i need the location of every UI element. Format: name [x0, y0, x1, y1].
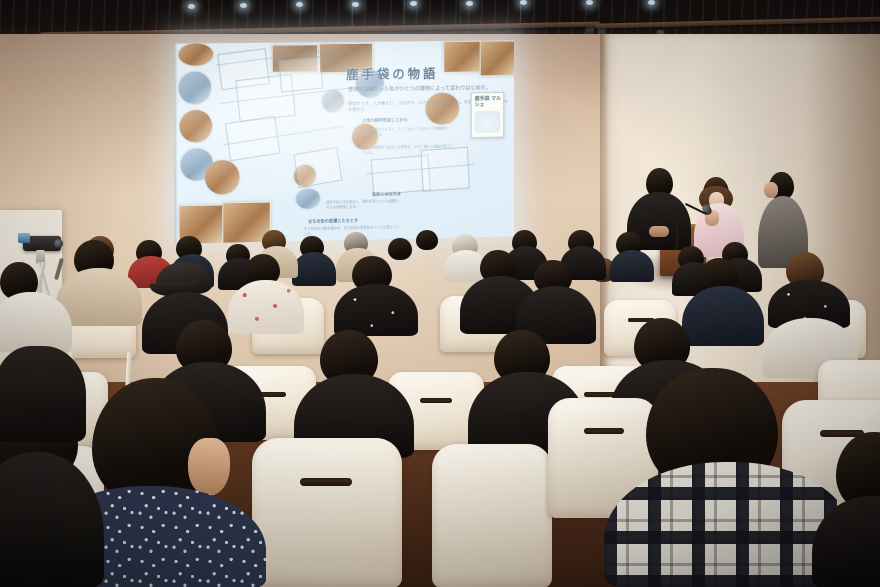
microphone-stand-pole[interactable]: [676, 214, 678, 250]
slide-section-heading: 土地の経年形成ことから: [362, 117, 408, 124]
ceiling-light: [188, 4, 195, 9]
ceiling-light: [296, 2, 303, 7]
ceiling-light: [466, 1, 473, 6]
slide-body-text: まちの記憶をたどると、そこにはいくつもの小さな物語が重なっている。: [362, 126, 449, 136]
screen-left-edge: [174, 44, 177, 244]
chair-handle-slot: [420, 398, 452, 403]
slide-section-heading: まちの形の変遷とたちとす: [308, 218, 358, 225]
slide-photo-circle-1: [179, 43, 214, 66]
slide-photo-circle-2: [179, 72, 212, 105]
audience-torso: [292, 252, 336, 286]
slide-poster-title: 鹿手袋 マルシェ: [475, 96, 503, 108]
slide-poster-card: 鹿手袋 マルシェ: [471, 92, 504, 138]
audience-torso: [610, 250, 654, 282]
ceiling-light: [586, 0, 593, 5]
slide-site-plan: [279, 56, 324, 92]
slide-photo-circle-3: [180, 110, 213, 143]
ceiling-light: [410, 1, 417, 6]
slide-photo-circle-5: [205, 160, 239, 195]
camera-lens: [54, 239, 63, 248]
camera-viewfinder-screen: [18, 233, 30, 243]
chair-handle-slot: [584, 428, 624, 434]
slide-body-text: 住民が自ら手を動かし、場所を育てていく過程そのものが物語になる。: [326, 199, 400, 210]
slide-site-plan: [225, 116, 280, 162]
standing-man-face: [764, 182, 778, 198]
ceiling-light: [520, 0, 527, 5]
audience-head: [388, 238, 412, 260]
slide-photo-circle-11: [296, 188, 320, 209]
ceiling-cable: [404, 0, 405, 24]
ceiling-light: [240, 3, 247, 8]
chair[interactable]: [432, 444, 552, 587]
slide-poster-illustration: [475, 111, 501, 133]
projection-screen: 鹿手袋の物語 普通の主婦だった私がひとつの建物によって変わりはじめた。 建物がで…: [174, 40, 514, 243]
event-photograph: 鹿手袋の物語 普通の主婦だった私がひとつの建物によって変わりはじめた。 建物がで…: [0, 0, 880, 587]
audience-head: [416, 230, 438, 250]
slide-body-text: ひとつの建物から始まった関係が、やがて通りの風景を変えていった。: [362, 144, 453, 155]
speaker-hands: [649, 226, 669, 237]
slide-photo-street-4: [480, 40, 514, 76]
ceiling-light: [352, 2, 359, 7]
slide-site-plan: [294, 147, 343, 188]
chair-handle-slot: [300, 478, 352, 486]
slide-section-heading: 住民とはなれる: [372, 191, 401, 198]
slide-photo-street-3: [443, 41, 484, 73]
foreground-face-profile: [188, 438, 230, 496]
ceiling-light: [648, 0, 655, 5]
chair[interactable]: [252, 438, 402, 587]
audience-torso: [0, 346, 86, 442]
slide-photo-circle-6: [322, 90, 344, 112]
slide-title: 鹿手袋の物語: [346, 63, 438, 83]
